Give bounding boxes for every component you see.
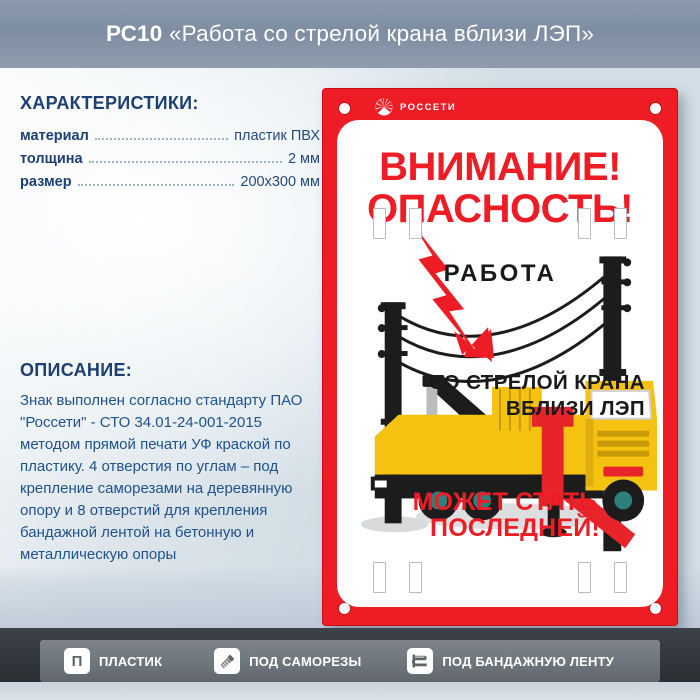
band-slot — [409, 208, 422, 239]
badge-plastic[interactable]: П ПЛАСТИК — [64, 648, 162, 674]
sign-bottom-line2: ПОСЛЕДНЕЙ! — [367, 515, 663, 541]
sign-line-boom: СО СТРЕЛОЙ КРАНА — [429, 370, 645, 396]
sign-bottom-line1: МОЖЕТ СТАТЬ — [347, 489, 663, 515]
plastic-icon: П — [64, 648, 90, 674]
badge-screws[interactable]: ПОД САМОРЕЗЫ — [214, 648, 361, 674]
sign-line-attention: ВНИМАНИЕ! — [337, 148, 663, 187]
spec-row-thickness: толщина 2 мм — [20, 151, 320, 167]
sign-line-detail: СО СТРЕЛОЙ КРАНА ВБЛИЗИ ЛЭП — [429, 370, 645, 422]
badge-label: ПОД БАНДАЖНУЮ ЛЕНТУ — [442, 654, 614, 669]
band-slot — [373, 562, 386, 593]
page-root: РС10 «Работа со стрелой крана вблизи ЛЭП… — [0, 0, 700, 700]
leader-dots — [95, 137, 228, 140]
band-clamp-icon-glyph — [411, 652, 429, 670]
plastic-icon-glyph: П — [72, 654, 83, 669]
band-slot — [614, 208, 627, 239]
rosseti-logo-text: РОССЕТИ — [400, 102, 456, 113]
badge-label: ПЛАСТИК — [99, 654, 162, 669]
page-title: РС10 «Работа со стрелой крана вблизи ЛЭП… — [106, 21, 594, 47]
sign-preview[interactable]: РОССЕТИ — [322, 88, 678, 626]
rosseti-burst-icon — [375, 98, 393, 116]
spec-key: материал — [20, 128, 89, 144]
sign-title-text: «Работа со стрелой крана вблизи ЛЭП» — [162, 21, 594, 46]
band-slot — [373, 208, 386, 239]
content-area: ХАРАКТЕРИСТИКИ: материал пластик ПВХ тол… — [0, 68, 700, 628]
sign-line-work: РАБОТА — [337, 260, 663, 288]
footer-badges: П ПЛАСТИК ПОД САМОРЕЗЫ — [40, 640, 660, 682]
description-section: ОПИСАНИЕ: Знак выполнен согласно стандар… — [20, 360, 312, 566]
lightning-arrow-icon — [413, 224, 495, 362]
header-bar: РС10 «Работа со стрелой крана вблизи ЛЭП… — [0, 0, 700, 68]
band-clamp-icon — [407, 648, 433, 674]
sign-plate: РОССЕТИ — [322, 88, 678, 626]
band-slot — [578, 208, 591, 239]
badge-band-clamp[interactable]: ПОД БАНДАЖНУЮ ЛЕНТУ — [407, 648, 614, 674]
sign-face: ВНИМАНИЕ! ОПАСНОСТЬ! РАБОТА СО СТРЕЛОЙ К… — [337, 120, 663, 607]
specs-heading: ХАРАКТЕРИСТИКИ: — [20, 93, 320, 114]
badge-label: ПОД САМОРЕЗЫ — [249, 654, 361, 669]
leader-dots — [89, 160, 282, 163]
mounting-hole-icon — [338, 102, 351, 115]
spec-key: размер — [20, 174, 72, 190]
mounting-hole-icon — [649, 102, 662, 115]
specs-section: ХАРАКТЕРИСТИКИ: материал пластик ПВХ тол… — [20, 93, 320, 197]
description-heading: ОПИСАНИЕ: — [20, 360, 312, 381]
spec-key: толщина — [20, 151, 83, 167]
spec-row-material: материал пластик ПВХ — [20, 128, 320, 144]
spec-row-size: размер 200х300 мм — [20, 174, 320, 190]
band-slot — [578, 562, 591, 593]
spec-value: пластик ПВХ — [234, 128, 320, 144]
screw-icon-glyph — [219, 653, 236, 670]
description-text: Знак выполнен согласно стандарту ПАО "Ро… — [20, 390, 312, 566]
band-slot — [614, 562, 627, 593]
leader-dots — [78, 183, 235, 186]
screw-icon — [214, 648, 240, 674]
footer-base-strip — [0, 682, 700, 700]
sign-line-nearby: ВБЛИЗИ ЛЭП — [429, 396, 645, 422]
spec-value: 2 мм — [288, 151, 320, 167]
spec-value: 200х300 мм — [240, 174, 320, 190]
sign-code: РС10 — [106, 21, 163, 46]
band-slot — [409, 562, 422, 593]
rosseti-logo: РОССЕТИ — [375, 98, 456, 116]
